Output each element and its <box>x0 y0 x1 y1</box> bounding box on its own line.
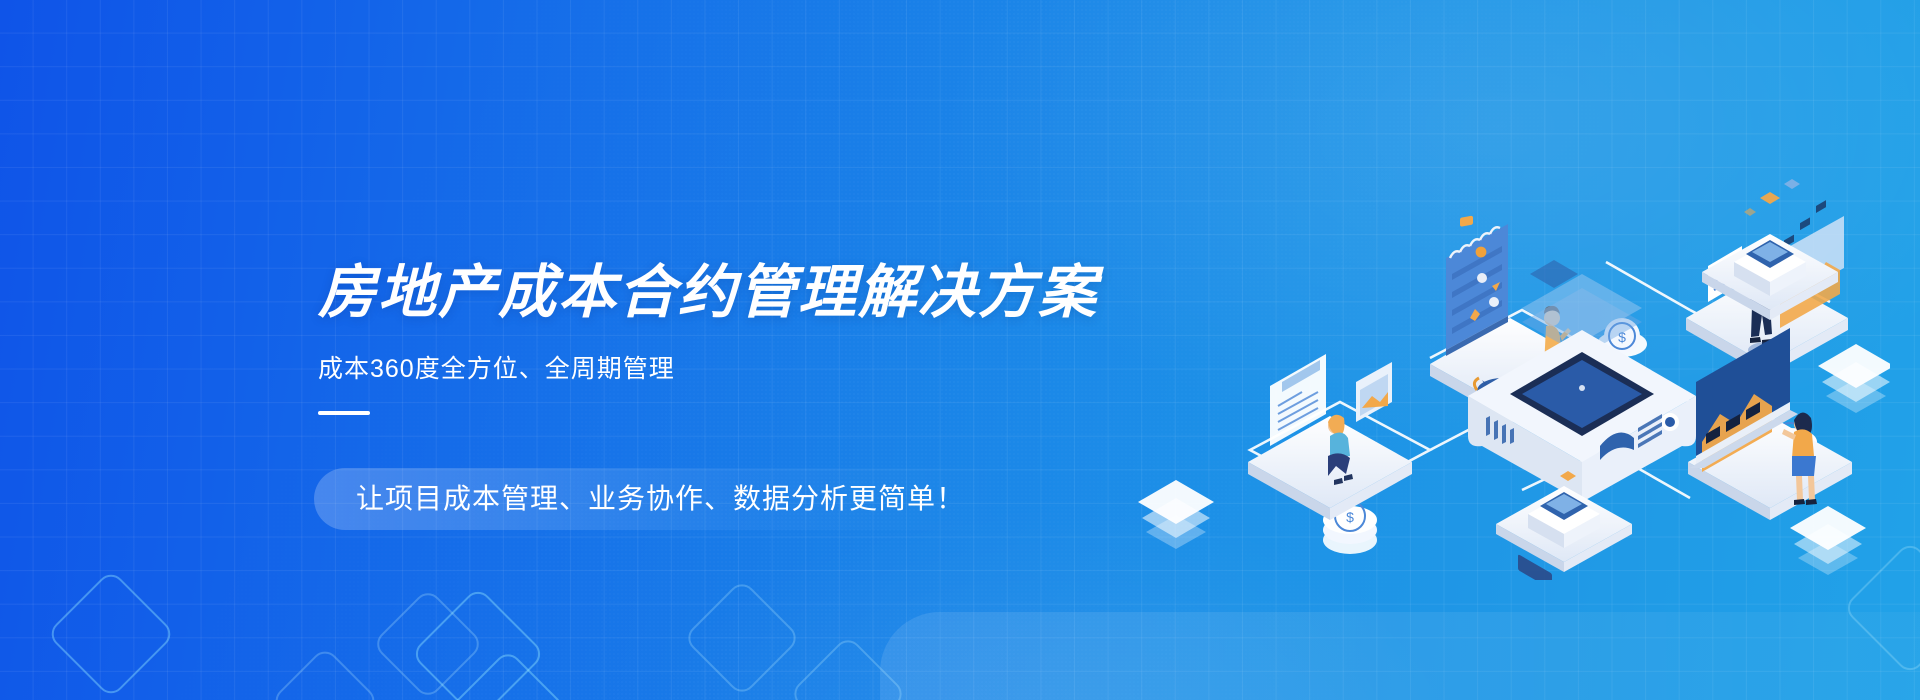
card-stack-right <box>1818 344 1890 413</box>
node-platform-lower <box>1496 471 1632 572</box>
document-platform <box>1248 354 1412 520</box>
page-subtitle: 成本360度全方位、全周期管理 <box>318 349 1078 385</box>
isometric-cost-management-illustration: $ $ $ <box>1130 150 1890 580</box>
card-stack-bottom <box>1790 506 1866 575</box>
decorative-diamond-3 <box>270 646 380 700</box>
tagline-text: 让项目成本管理、业务协作、数据分析更简单！ <box>356 483 965 514</box>
hero-banner: 房地产成本合约管理解决方案 成本360度全方位、全周期管理 让项目成本管理、业务… <box>0 0 1920 700</box>
tagline-container: 让项目成本管理、业务协作、数据分析更简单！ <box>314 468 1007 530</box>
page-title: 房地产成本合约管理解决方案 <box>318 262 1078 325</box>
decorative-diamond-7 <box>789 635 908 700</box>
card-stack-left <box>1138 480 1214 549</box>
hero-copy: 房地产成本合约管理解决方案 成本360度全方位、全周期管理 <box>318 262 1078 415</box>
decorative-diamond-6 <box>683 579 802 698</box>
decorative-diamond-4 <box>410 586 546 700</box>
background-band <box>880 612 1920 700</box>
decorative-diamond-2 <box>371 587 484 700</box>
decorative-diamond-5 <box>449 649 568 700</box>
photo-card <box>1356 362 1392 422</box>
svg-text:$: $ <box>1346 509 1354 525</box>
tagline-pill: 让项目成本管理、业务协作、数据分析更简单！ <box>314 468 1007 530</box>
title-divider <box>318 411 370 415</box>
floating-bits <box>1744 179 1800 216</box>
decorative-diamond-1 <box>46 569 176 699</box>
dashboard-platform <box>1688 328 1852 520</box>
